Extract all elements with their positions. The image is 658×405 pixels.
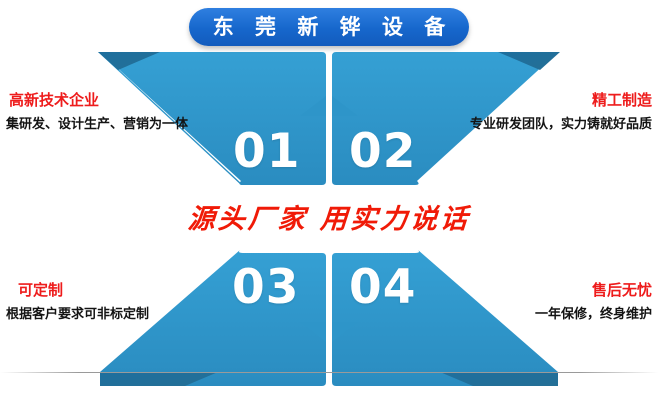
arrow-graphics	[0, 0, 658, 405]
banner-title-pill: 东 莞 新 铧 设 备	[189, 8, 469, 46]
bottom-divider	[0, 372, 658, 373]
step-subtitle-01: 集研发、设计生产、营销为一体	[6, 118, 188, 132]
step-heading-04: 售后无忧	[535, 282, 652, 299]
step-number-04: 04	[349, 264, 416, 311]
step-heading-02: 精工制造	[470, 92, 652, 109]
step-subtitle-04: 一年保修，终身维护	[535, 308, 652, 322]
step-number-03: 03	[232, 264, 299, 311]
step-text-01: 高新技术企业 集研发、设计生产、营销为一体	[6, 92, 188, 132]
step-heading-03: 可定制	[18, 282, 149, 299]
step-subtitle-03: 根据客户要求可非标定制	[6, 308, 149, 322]
center-slogan: 源头厂家 用实力说话	[0, 206, 658, 233]
step-text-03: 可定制 根据客户要求可非标定制	[6, 282, 149, 322]
step-number-02: 02	[349, 128, 416, 175]
page-title: 东 莞 新 铧 设 备	[206, 17, 453, 38]
step-number-01: 01	[233, 128, 300, 175]
promo-banner: 东 莞 新 铧 设 备 01 02 03 04 高新技术企业 集研发、设计生产、…	[0, 0, 658, 405]
step-subtitle-02: 专业研发团队，实力铸就好品质	[470, 118, 652, 132]
step-heading-01: 高新技术企业	[9, 92, 188, 109]
step-text-02: 精工制造 专业研发团队，实力铸就好品质	[470, 92, 652, 132]
step-text-04: 售后无忧 一年保修，终身维护	[535, 282, 652, 322]
